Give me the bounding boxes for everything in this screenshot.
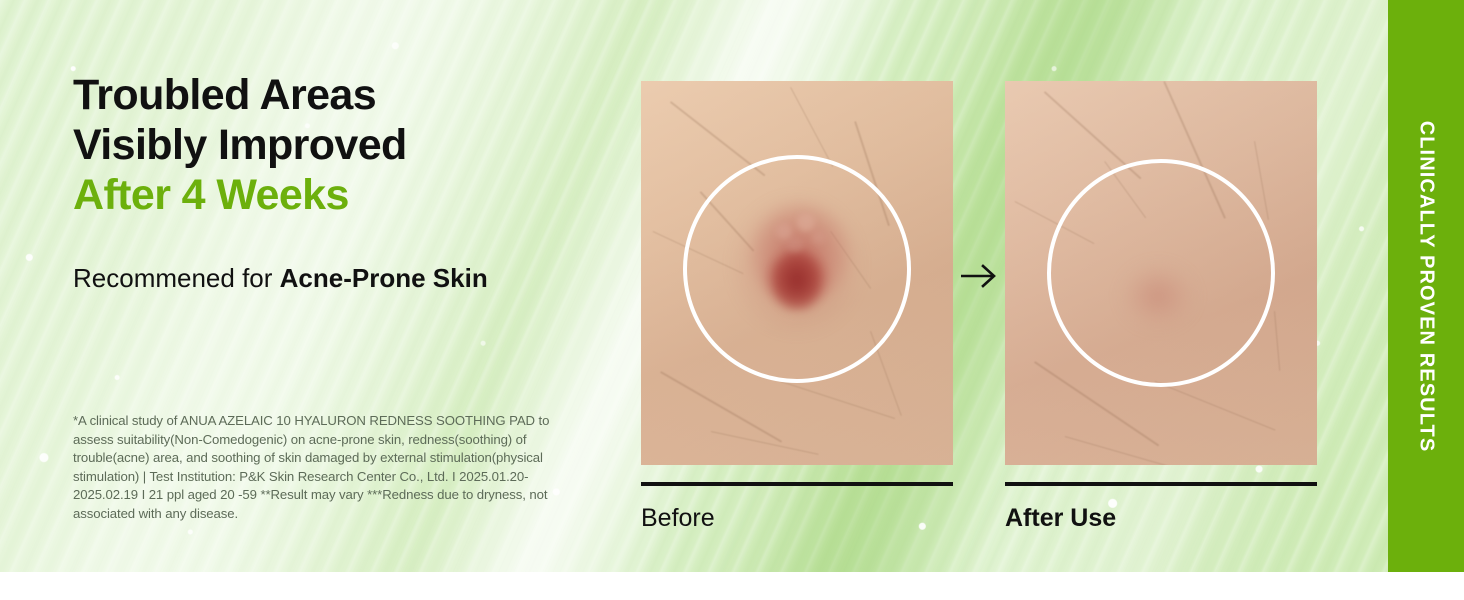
highlight-circle-icon <box>1047 159 1275 387</box>
clinical-disclaimer: *A clinical study of ANUA AZELAIC 10 HYA… <box>73 412 593 524</box>
headline-line-1: Troubled Areas <box>73 70 407 120</box>
clinically-proven-tab: CLINICALLY PROVEN RESULTS <box>1388 0 1464 572</box>
page-title: Troubled Areas Visibly Improved After 4 … <box>73 70 407 220</box>
before-photo <box>641 81 953 465</box>
headline-line-2: Visibly Improved <box>73 120 407 170</box>
after-photo <box>1005 81 1317 465</box>
before-caption: Before <box>641 503 953 533</box>
arrow-right-icon <box>953 248 1005 304</box>
headline-line-3: After 4 Weeks <box>73 170 407 220</box>
before-divider <box>641 482 953 486</box>
highlight-circle-icon <box>683 155 911 383</box>
after-divider <box>1005 482 1317 486</box>
after-block: After Use <box>1005 81 1317 533</box>
after-caption: After Use <box>1005 503 1317 533</box>
promo-banner: Troubled Areas Visibly Improved After 4 … <box>0 0 1464 572</box>
subheadline: Recommened for Acne-Prone Skin <box>73 262 488 294</box>
subheadline-emphasis: Acne-Prone Skin <box>280 263 488 293</box>
subheadline-prefix: Recommened for <box>73 263 280 293</box>
clinically-proven-label: CLINICALLY PROVEN RESULTS <box>1415 120 1438 452</box>
before-block: Before <box>641 81 953 533</box>
